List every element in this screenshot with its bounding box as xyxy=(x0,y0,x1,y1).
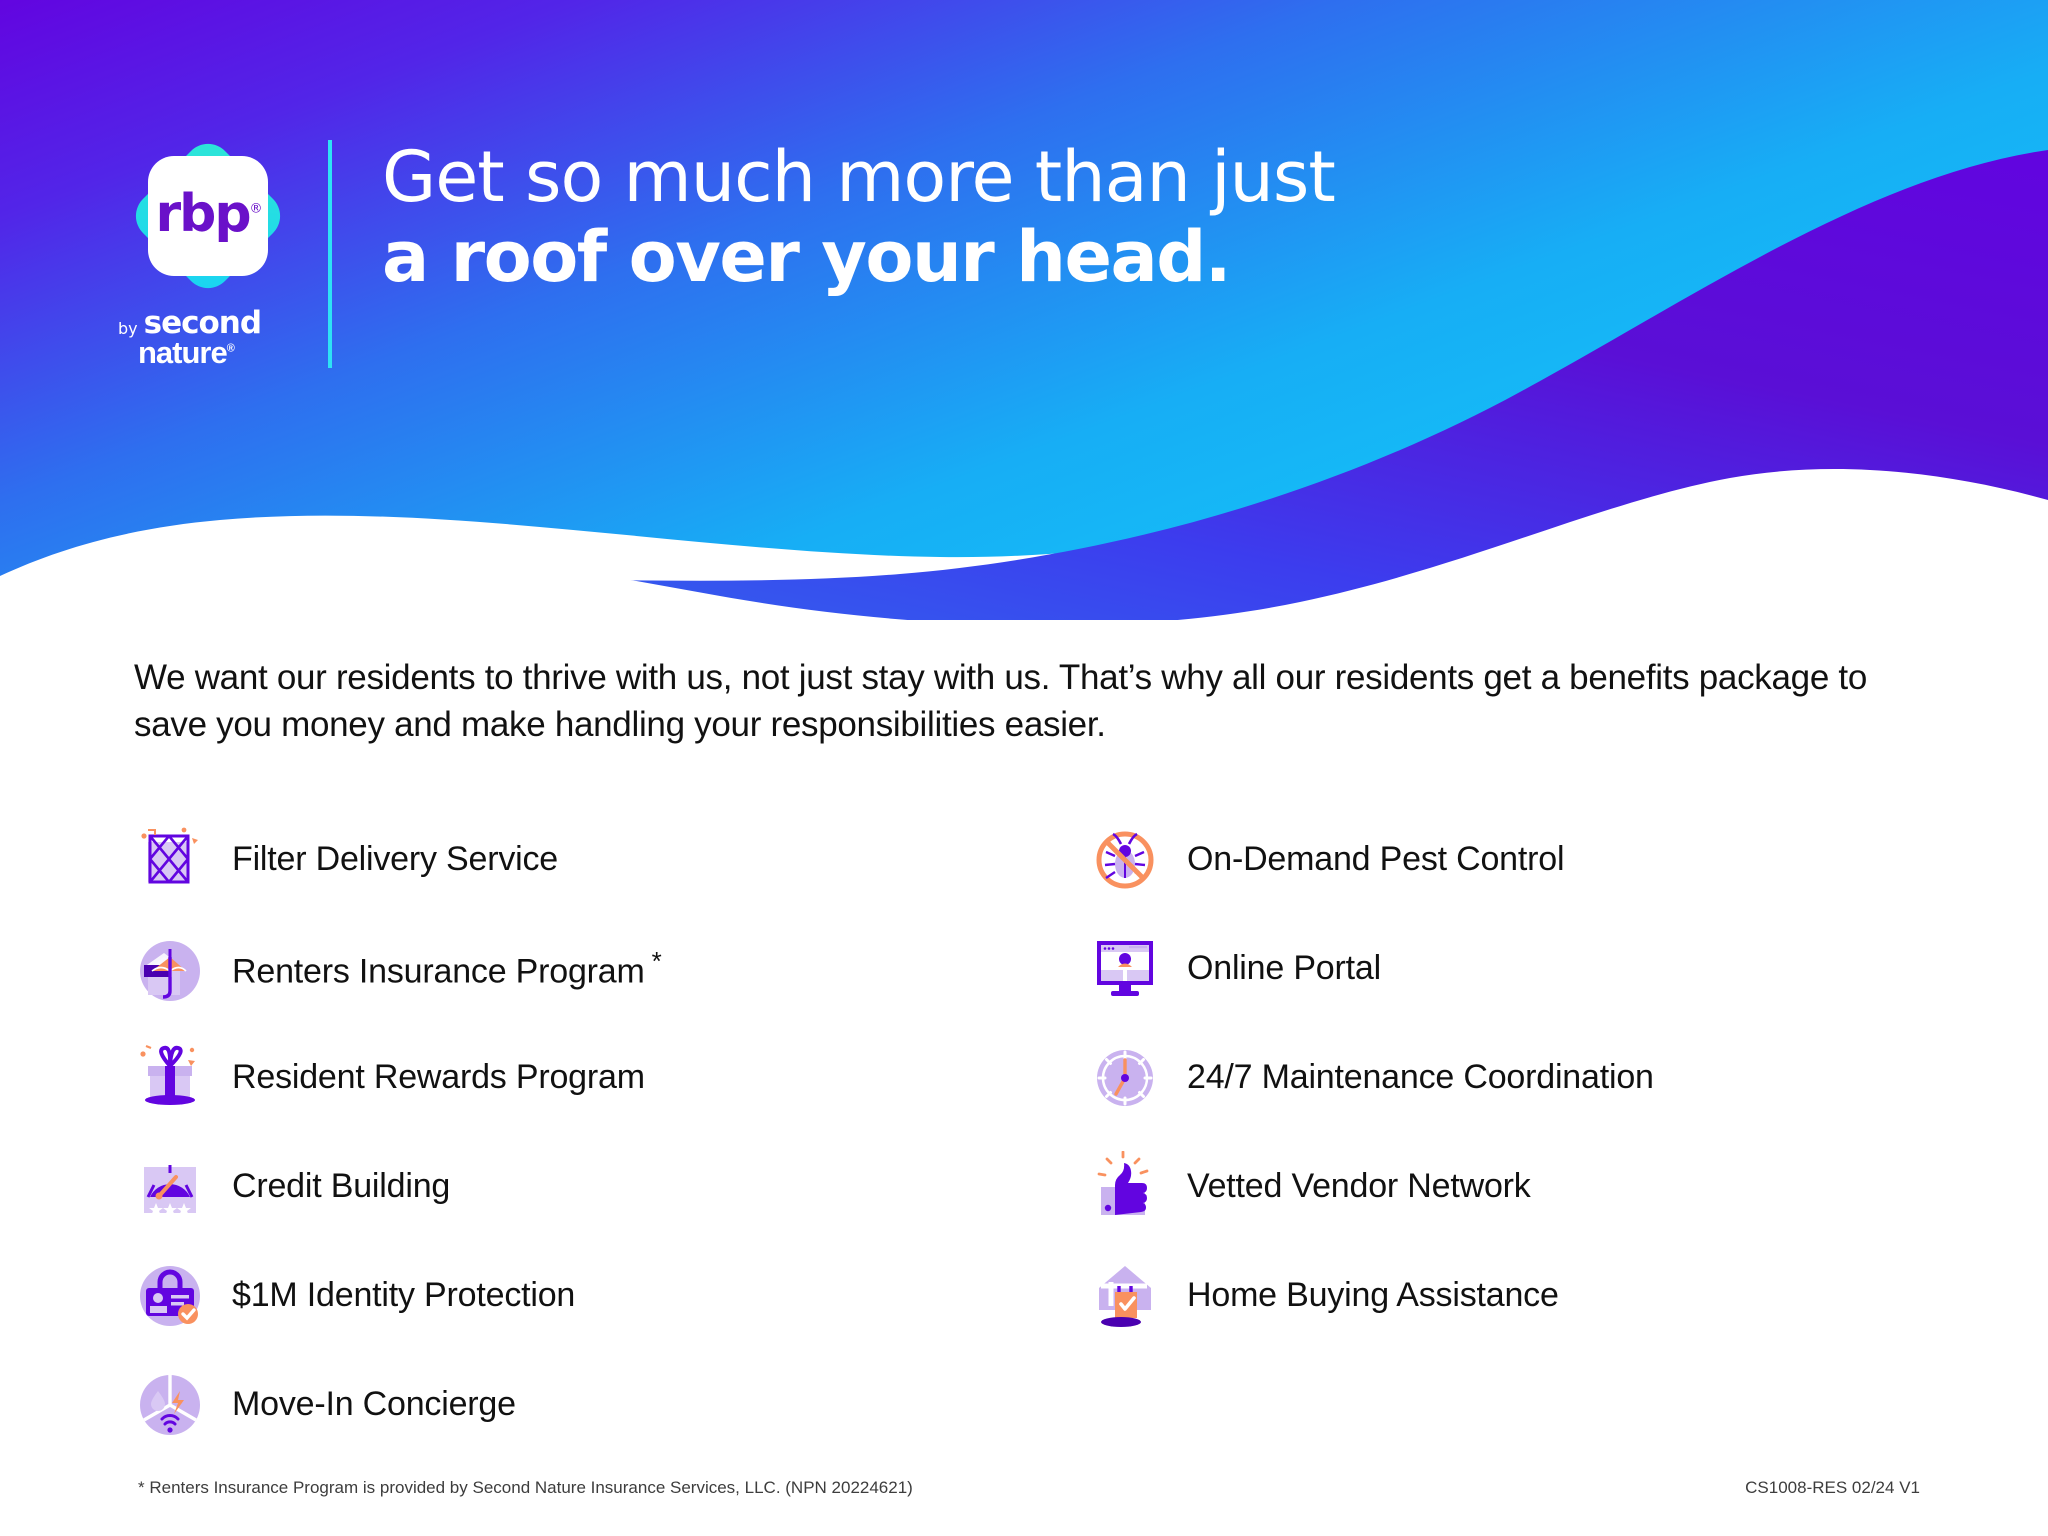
benefit-item: Renters Insurance Program * xyxy=(134,914,1089,1023)
document-code: CS1008-RES 02/24 V1 xyxy=(1745,1478,1920,1498)
umbrella-house-icon xyxy=(134,933,206,1005)
thumbs-up-icon xyxy=(1089,1151,1161,1223)
logo-byline: by second nature® xyxy=(118,308,308,371)
benefit-label: Resident Rewards Program xyxy=(232,1058,645,1097)
benefit-label: Credit Building xyxy=(232,1167,450,1206)
rbp-logo: rbp® by second nature® xyxy=(118,140,308,370)
benefit-item: 24/7 Maintenance Coordination xyxy=(1089,1023,1964,1132)
credit-gauge-icon xyxy=(134,1151,206,1223)
gift-box-icon xyxy=(134,1042,206,1114)
benefit-item: Resident Rewards Program xyxy=(134,1023,1089,1132)
utilities-wifi-icon xyxy=(134,1369,206,1441)
benefit-label: On-Demand Pest Control xyxy=(1187,840,1564,879)
benefit-label: Vetted Vendor Network xyxy=(1187,1167,1531,1206)
benefit-label: Filter Delivery Service xyxy=(232,840,558,879)
benefit-item: Vetted Vendor Network xyxy=(1089,1132,1964,1241)
benefits-list: Filter Delivery ServiceRenters Insurance… xyxy=(134,805,1964,1459)
benefit-item: Home Buying Assistance xyxy=(1089,1241,1964,1350)
footnote-text: * Renters Insurance Program is provided … xyxy=(138,1478,913,1498)
benefits-column-right: On-Demand Pest ControlOnline Portal24/7 … xyxy=(1089,805,1964,1459)
no-bug-icon xyxy=(1089,824,1161,896)
rbp-logo-mark: rbp® xyxy=(132,140,284,292)
benefits-column-left: Filter Delivery ServiceRenters Insurance… xyxy=(134,805,1089,1459)
benefit-asterisk: * xyxy=(645,946,662,976)
air-filter-icon xyxy=(134,824,206,896)
logo-rbp-text: rbp® xyxy=(155,188,260,240)
benefit-label: Renters Insurance Program * xyxy=(232,946,662,991)
clock-icon xyxy=(1089,1042,1161,1114)
logo-nature-text: nature® xyxy=(138,335,308,371)
benefit-label: Move-In Concierge xyxy=(232,1385,516,1424)
benefit-item: Credit Building xyxy=(134,1132,1089,1241)
benefit-label: $1M Identity Protection xyxy=(232,1276,575,1315)
benefit-label: Home Buying Assistance xyxy=(1187,1276,1559,1315)
benefit-label: 24/7 Maintenance Coordination xyxy=(1187,1058,1654,1097)
benefit-item: Online Portal xyxy=(1089,914,1964,1023)
benefit-item: Move-In Concierge xyxy=(134,1350,1089,1459)
logo-white-square: rbp® xyxy=(148,156,268,276)
benefit-item: On-Demand Pest Control xyxy=(1089,805,1964,914)
logo-company-registered-mark: ® xyxy=(227,343,234,355)
id-badge-check-icon xyxy=(134,1260,206,1332)
hero-heading-line-1: Get so much more than just xyxy=(382,140,1335,216)
logo-registered-mark: ® xyxy=(250,202,261,217)
intro-paragraph: We want our residents to thrive with us,… xyxy=(134,655,1924,749)
benefit-label: Online Portal xyxy=(1187,949,1381,988)
benefit-item: Filter Delivery Service xyxy=(134,805,1089,914)
hero-heading-line-2: a roof over your head. xyxy=(382,218,1335,298)
hero-heading: Get so much more than just a roof over y… xyxy=(382,140,1335,297)
hero-banner: rbp® by second nature® Get so much more … xyxy=(0,0,2048,620)
house-sign-icon xyxy=(1089,1260,1161,1332)
logo-by-label: by xyxy=(118,321,138,339)
benefit-item: $1M Identity Protection xyxy=(134,1241,1089,1350)
hero-vertical-divider xyxy=(328,140,332,368)
monitor-portal-icon xyxy=(1089,933,1161,1005)
